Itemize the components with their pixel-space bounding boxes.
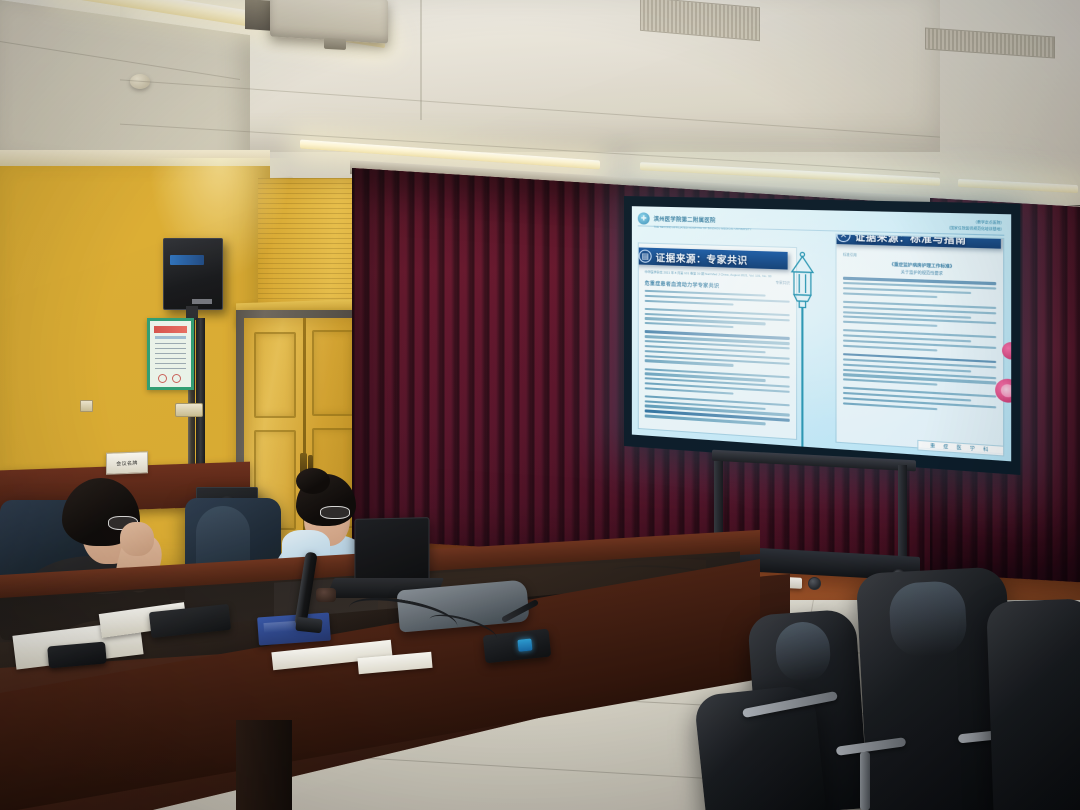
ceiling-light-panel [958,179,1078,193]
certificate-seal [172,374,181,383]
slide-left-panel: 中华医学杂志 2021 年 8 月第 101 卷第 30 期 Natl Med … [638,242,797,440]
slide-right-panel: 标准引用 《重症监护病房护理工作标准》 关于监护的规范性要求 [835,234,1004,455]
document-icon: ▤ [639,249,652,262]
right-doc-body [843,277,996,440]
hospital-tagline-line2: （国家住院医师规范化培训基地） [946,225,1004,232]
left-doc-body [645,290,790,435]
right-banner: ✕ 证据来源：标准与指南 [835,234,1000,249]
presenter-glasses [320,506,350,519]
hospital-name-block: 滨州医学院第二附属医院 THE SECOND AFFILIATED HOSPIT… [654,208,752,232]
left-banner: ▤ 证据来源：专家共识 [638,247,788,269]
right-banner-title: 证据来源：标准与指南 [855,234,967,247]
presentation-slide: ✚ 滨州医学院第二附属医院 THE SECOND AFFILIATED HOSP… [632,206,1011,461]
certificate-title-bar [154,326,187,333]
table-leg [236,720,292,810]
nameplate-text: 会议名牌 [116,459,138,467]
cart-caster [808,577,821,590]
right-section-label: 标准引用 [843,252,857,258]
speaker-brand-logo [192,299,212,304]
light-switch[interactable] [80,400,93,412]
attendee-hand [120,522,154,556]
wall-mounted-speaker [163,238,223,310]
framed-certificate [147,318,194,390]
slide-columns: 中华医学杂志 2021 年 8 月第 101 卷第 30 期 Natl Med … [638,228,1005,454]
door-panel [312,330,354,416]
wall-power-outlet[interactable] [175,403,203,417]
projection-screen: ✚ 滨州医学院第二附属医院 THE SECOND AFFILIATED HOSP… [624,196,1020,475]
street-lamp-icon [789,251,817,460]
tools-icon: ✕ [837,234,851,243]
hospital-name: 滨州医学院第二附属医院 [654,217,716,225]
certificate-subtitle-bar [155,336,186,339]
hospital-circle-logo-icon: ✚ [638,212,650,224]
cart-leg [898,465,907,565]
ceiling-air-vent [925,27,1055,58]
left-banner-title: 证据来源：专家共识 [656,249,748,266]
chair-post [860,752,870,810]
ceiling-projector-icon [270,0,388,44]
wall-cornice [0,150,270,166]
presenter-hair-bun [296,468,330,494]
conference-room-photo: ✚ 滨州医学院第二附属医院 THE SECOND AFFILIATED HOSP… [0,0,1080,810]
black-office-chair[interactable] [986,598,1080,810]
microphone-base [295,617,322,634]
speaker-label [170,255,204,265]
certificate-text-lines [155,343,186,371]
door-panel [254,332,296,418]
dark-cup[interactable] [316,588,336,602]
hospital-tagline: （教学定点医院） （国家住院医师规范化培训基地） [946,220,1004,232]
certificate-seal [158,374,167,383]
laptop-screen[interactable] [354,517,429,585]
ceiling-seam [420,0,422,120]
